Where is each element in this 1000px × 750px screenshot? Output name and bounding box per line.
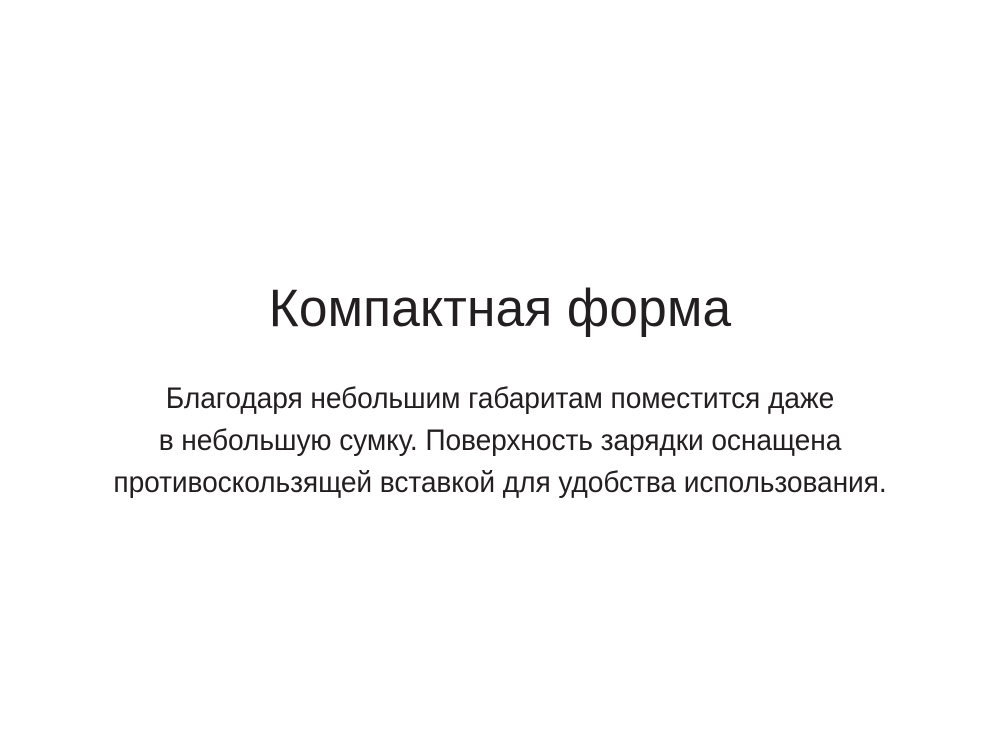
slide-content-block: Компактная форма Благодаря небольшим габ… <box>0 0 1000 750</box>
body-line: противоскользящей вставкой для удобства … <box>23 462 978 504</box>
body-line: Благодаря небольшим габаритам поместится… <box>23 378 978 420</box>
page-title: Компактная форма <box>15 278 985 340</box>
body-line: в небольшую сумку. Поверхность зарядки о… <box>23 420 978 462</box>
slide-body-text: Благодаря небольшим габаритам поместится… <box>0 378 1000 504</box>
presentation-slide: Компактная форма Благодаря небольшим габ… <box>0 0 1000 750</box>
